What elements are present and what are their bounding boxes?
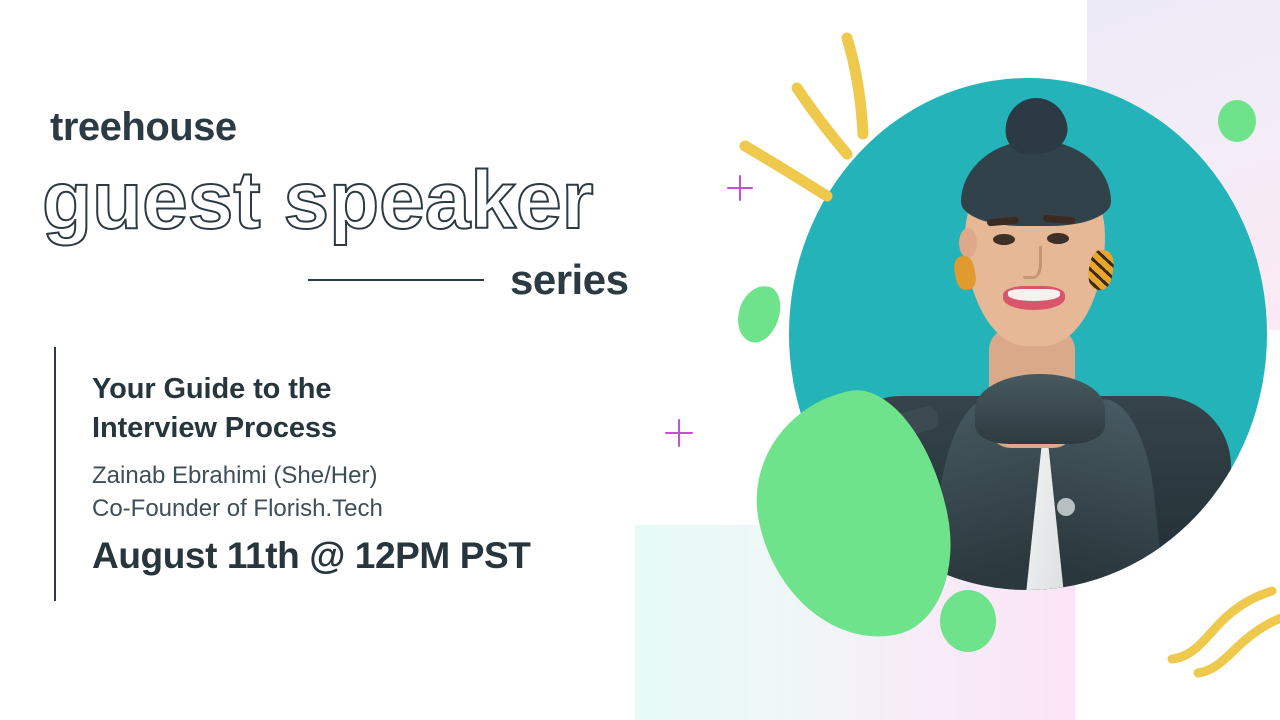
headline-outline: guest speaker <box>42 158 594 244</box>
talk-title-line-1: Your Guide to the <box>92 370 337 409</box>
series-label: series <box>510 256 628 304</box>
jacket-collar <box>975 374 1105 444</box>
series-row: series <box>308 256 628 304</box>
guest-speaker-promo-slide: treehouse guest speaker series Your Guid… <box>0 0 1280 720</box>
speaker-name: Zainab Ebrahimi (She/Her) <box>92 461 377 492</box>
yellow-brush-strokes-top <box>735 30 915 220</box>
teeth <box>1008 289 1060 301</box>
yellow-brush-strokes-bottom <box>1160 585 1280 705</box>
green-circle-top-right <box>1218 100 1256 142</box>
speaker-role: Co-Founder of Florish.Tech <box>92 494 383 525</box>
vertical-divider-rule <box>54 347 56 601</box>
plus-mark-icon <box>665 419 693 447</box>
green-circle-bottom <box>940 590 996 652</box>
jacket-snap-button <box>1057 498 1075 516</box>
event-datetime: August 11th @ 12PM PST <box>92 535 530 577</box>
plus-mark-icon <box>727 175 753 201</box>
eye-left <box>993 234 1015 245</box>
nose <box>1023 246 1042 279</box>
talk-title: Your Guide to the Interview Process <box>92 370 337 448</box>
brand-wordmark: treehouse <box>50 107 237 147</box>
ear-left <box>959 228 977 258</box>
talk-title-line-2: Interview Process <box>92 409 337 448</box>
eye-right <box>1047 233 1069 244</box>
series-divider-rule <box>308 279 484 281</box>
green-blob-small-left <box>731 280 787 348</box>
